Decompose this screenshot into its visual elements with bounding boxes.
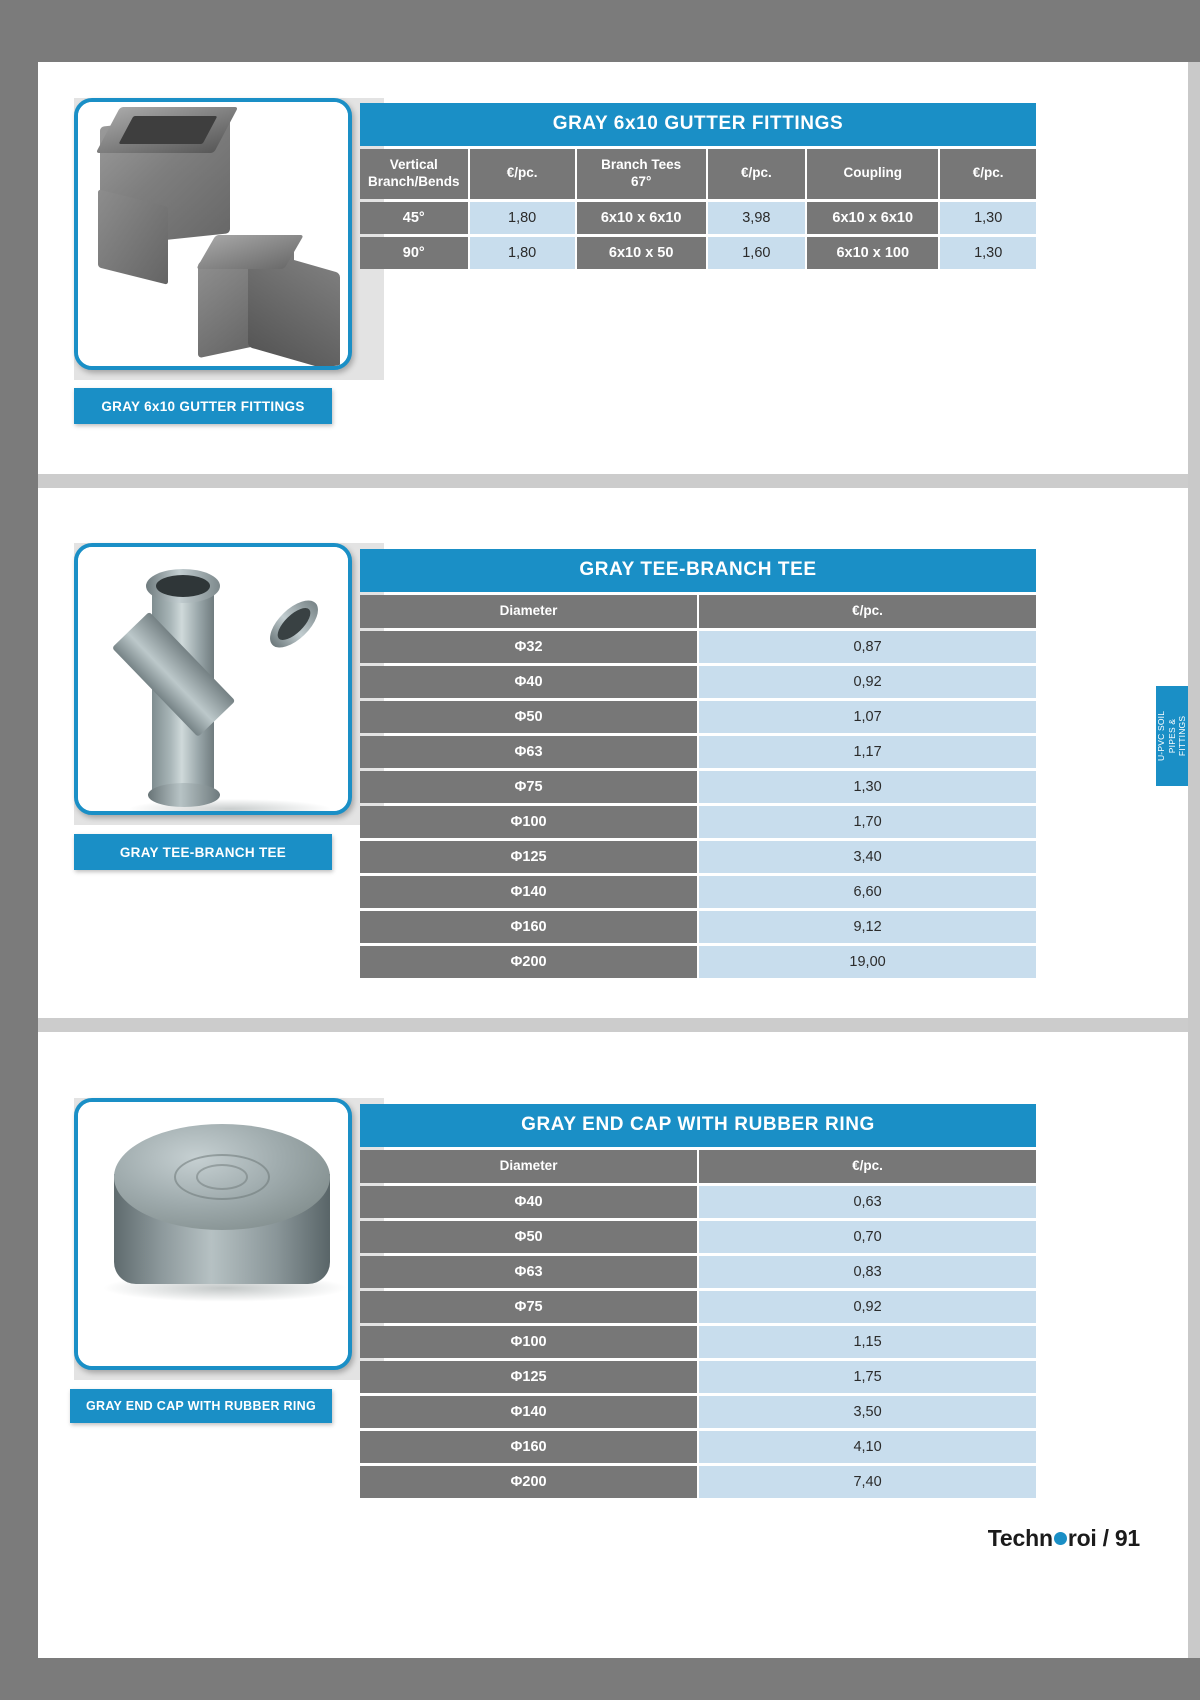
- cell-price: 0,92: [699, 1291, 1036, 1323]
- cell-price: 19,00: [699, 946, 1036, 978]
- cell-price: 1,70: [699, 806, 1036, 838]
- cell-diameter: Φ100: [360, 806, 697, 838]
- table-header-row: Diameter €/pc.: [360, 1150, 1036, 1183]
- table-row: Φ200 19,00: [360, 946, 1036, 978]
- cell-price: 3,40: [699, 841, 1036, 873]
- cell-diameter: Φ200: [360, 946, 697, 978]
- cell-price: 1,30: [940, 202, 1036, 234]
- cell-vertical-branch: 45°: [360, 202, 468, 234]
- cell-diameter: Φ40: [360, 1186, 697, 1218]
- cell-price: 0,63: [699, 1186, 1036, 1218]
- cell-diameter: Φ32: [360, 631, 697, 663]
- column-header-price-2: €/pc.: [708, 149, 806, 199]
- table-row: Φ75 1,30: [360, 771, 1036, 803]
- table-row: Φ63 0,83: [360, 1256, 1036, 1288]
- header-line-2: 67°: [631, 174, 651, 189]
- cell-price: 1,75: [699, 1361, 1036, 1393]
- brand-text-part1: Techn: [988, 1525, 1053, 1552]
- side-tab-upvc-soil-pipes-fittings: U-PVC SOIL PIPES & FITTINGS: [1156, 686, 1188, 786]
- table-row: Φ125 3,40: [360, 841, 1036, 873]
- brand-dot-icon: [1054, 1532, 1067, 1545]
- cell-price: 1,60: [708, 237, 806, 269]
- cell-price: 1,30: [940, 237, 1036, 269]
- header-line-2: Branch/Bends: [368, 174, 460, 189]
- table-row: Φ50 0,70: [360, 1221, 1036, 1253]
- cell-price: 0,70: [699, 1221, 1036, 1253]
- table-row: Φ63 1,17: [360, 736, 1036, 768]
- side-tab-line-1: U-PVC SOIL: [1156, 711, 1166, 761]
- bottom-band: [0, 1658, 1200, 1700]
- table-tee-branch-tee: GRAY TEE-BRANCH TEE Diameter €/pc. Φ32 0…: [358, 546, 1038, 981]
- table-gutter-fittings: GRAY 6x10 GUTTER FITTINGS Vertical Branc…: [358, 100, 1038, 272]
- table-row: Φ100 1,15: [360, 1326, 1036, 1358]
- table-row: Φ100 1,70: [360, 806, 1036, 838]
- product-caption-end-cap: GRAY END CAP WITH RUBBER RING: [70, 1389, 332, 1423]
- cell-diameter: Φ200: [360, 1466, 697, 1498]
- column-header-branch-tees: Branch Tees 67°: [577, 149, 706, 199]
- table-row: Φ140 3,50: [360, 1396, 1036, 1428]
- cell-price: 9,12: [699, 911, 1036, 943]
- product-image-gutter-fittings: [74, 98, 352, 370]
- cell-diameter: Φ40: [360, 666, 697, 698]
- tee-base-rim: [148, 783, 220, 807]
- table-end-cap: GRAY END CAP WITH RUBBER RING Diameter €…: [358, 1101, 1038, 1501]
- product-caption-gutter-fittings: GRAY 6x10 GUTTER FITTINGS: [74, 388, 332, 424]
- table-row: Φ160 9,12: [360, 911, 1036, 943]
- column-header-diameter: Diameter: [360, 595, 697, 628]
- cell-branch-tee: 6x10 x 6x10: [577, 202, 706, 234]
- cell-diameter: Φ75: [360, 1291, 697, 1323]
- table-title-row: GRAY END CAP WITH RUBBER RING: [360, 1104, 1036, 1147]
- table-row: 45° 1,80 6x10 x 6x10 3,98 6x10 x 6x10 1,…: [360, 202, 1036, 234]
- table-title-gutter-fittings: GRAY 6x10 GUTTER FITTINGS: [360, 103, 1036, 146]
- cell-coupling: 6x10 x 6x10: [807, 202, 938, 234]
- cell-price: 4,10: [699, 1431, 1036, 1463]
- table-title-row: GRAY TEE-BRANCH TEE: [360, 549, 1036, 592]
- table-row: Φ75 0,92: [360, 1291, 1036, 1323]
- panel-divider-2: [38, 1018, 1188, 1032]
- end-cap-illustration: [78, 1102, 348, 1366]
- column-header-price-3: €/pc.: [940, 149, 1036, 199]
- product-image-tee-branch-tee: [74, 543, 352, 815]
- cell-price: 7,40: [699, 1466, 1036, 1498]
- cell-price: 1,30: [699, 771, 1036, 803]
- column-header-vertical-branch-bends: Vertical Branch/Bends: [360, 149, 468, 199]
- column-header-price-1: €/pc.: [470, 149, 575, 199]
- gutter-fitting-illustration: [78, 102, 348, 366]
- cell-diameter: Φ125: [360, 1361, 697, 1393]
- brand-text-part2: roi: [1068, 1525, 1097, 1552]
- cap-ring-inner: [196, 1164, 248, 1190]
- cell-coupling: 6x10 x 100: [807, 237, 938, 269]
- cell-price: 3,98: [708, 202, 806, 234]
- cell-price: 3,50: [699, 1396, 1036, 1428]
- page-number: 91: [1115, 1525, 1140, 1552]
- table-title-row: GRAY 6x10 GUTTER FITTINGS: [360, 103, 1036, 146]
- panel-divider-1: [38, 474, 1188, 488]
- cell-price: 1,80: [470, 202, 575, 234]
- product-caption-tee-branch-tee: GRAY TEE-BRANCH TEE: [74, 834, 332, 870]
- table-row: Φ40 0,92: [360, 666, 1036, 698]
- bend-leg-shape: [98, 189, 168, 284]
- cell-diameter: Φ100: [360, 1326, 697, 1358]
- table-title-tee-branch-tee: GRAY TEE-BRANCH TEE: [360, 549, 1036, 592]
- cell-price: 6,60: [699, 876, 1036, 908]
- side-tab-line-2: PIPES &: [1167, 719, 1177, 753]
- table-header-row: Vertical Branch/Bends €/pc. Branch Tees …: [360, 149, 1036, 199]
- table-row: Φ140 6,60: [360, 876, 1036, 908]
- column-header-price: €/pc.: [699, 1150, 1036, 1183]
- cell-branch-tee: 6x10 x 50: [577, 237, 706, 269]
- cell-diameter: Φ160: [360, 1431, 697, 1463]
- tee-branch-illustration: [78, 547, 348, 811]
- tee-top-bore: [156, 575, 210, 597]
- table-header-row: Diameter €/pc.: [360, 595, 1036, 628]
- column-header-price: €/pc.: [699, 595, 1036, 628]
- cell-price: 1,07: [699, 701, 1036, 733]
- header-line-1: Vertical: [390, 157, 438, 172]
- footer-brand: Technroi / 91: [988, 1525, 1140, 1552]
- cell-diameter: Φ50: [360, 1221, 697, 1253]
- side-tab-label: U-PVC SOIL PIPES & FITTINGS: [1156, 711, 1188, 761]
- cell-diameter: Φ50: [360, 701, 697, 733]
- table-row: Φ160 4,10: [360, 1431, 1036, 1463]
- cell-price: 0,83: [699, 1256, 1036, 1288]
- table-row: Φ125 1,75: [360, 1361, 1036, 1393]
- cell-diameter: Φ140: [360, 1396, 697, 1428]
- column-header-diameter: Diameter: [360, 1150, 697, 1183]
- table-row: Φ32 0,87: [360, 631, 1036, 663]
- header-line-1: Branch Tees: [601, 157, 681, 172]
- cell-price: 1,80: [470, 237, 575, 269]
- top-band: [0, 0, 1200, 62]
- table-title-end-cap: GRAY END CAP WITH RUBBER RING: [360, 1104, 1036, 1147]
- cell-price: 1,17: [699, 736, 1036, 768]
- column-header-coupling: Coupling: [807, 149, 938, 199]
- cell-diameter: Φ75: [360, 771, 697, 803]
- cell-vertical-branch: 90°: [360, 237, 468, 269]
- cell-price: 0,87: [699, 631, 1036, 663]
- product-image-end-cap: [74, 1098, 352, 1370]
- footer-separator: /: [1103, 1525, 1109, 1552]
- cell-diameter: Φ140: [360, 876, 697, 908]
- cell-price: 0,92: [699, 666, 1036, 698]
- side-tab-line-3: FITTINGS: [1177, 716, 1187, 756]
- cell-diameter: Φ63: [360, 736, 697, 768]
- cell-diameter: Φ160: [360, 911, 697, 943]
- catalog-page: GRAY 6x10 GUTTER FITTINGS GRAY 6x10 GUTT…: [0, 0, 1200, 1700]
- right-gray-strip: [1188, 62, 1200, 1700]
- cell-price: 1,15: [699, 1326, 1036, 1358]
- table-row: Φ200 7,40: [360, 1466, 1036, 1498]
- bend-opening: [119, 116, 218, 144]
- cell-diameter: Φ125: [360, 841, 697, 873]
- left-gray-strip: [0, 62, 38, 1700]
- table-row: Φ50 1,07: [360, 701, 1036, 733]
- table-row: Φ40 0,63: [360, 1186, 1036, 1218]
- table-row: 90° 1,80 6x10 x 50 1,60 6x10 x 100 1,30: [360, 237, 1036, 269]
- cell-diameter: Φ63: [360, 1256, 697, 1288]
